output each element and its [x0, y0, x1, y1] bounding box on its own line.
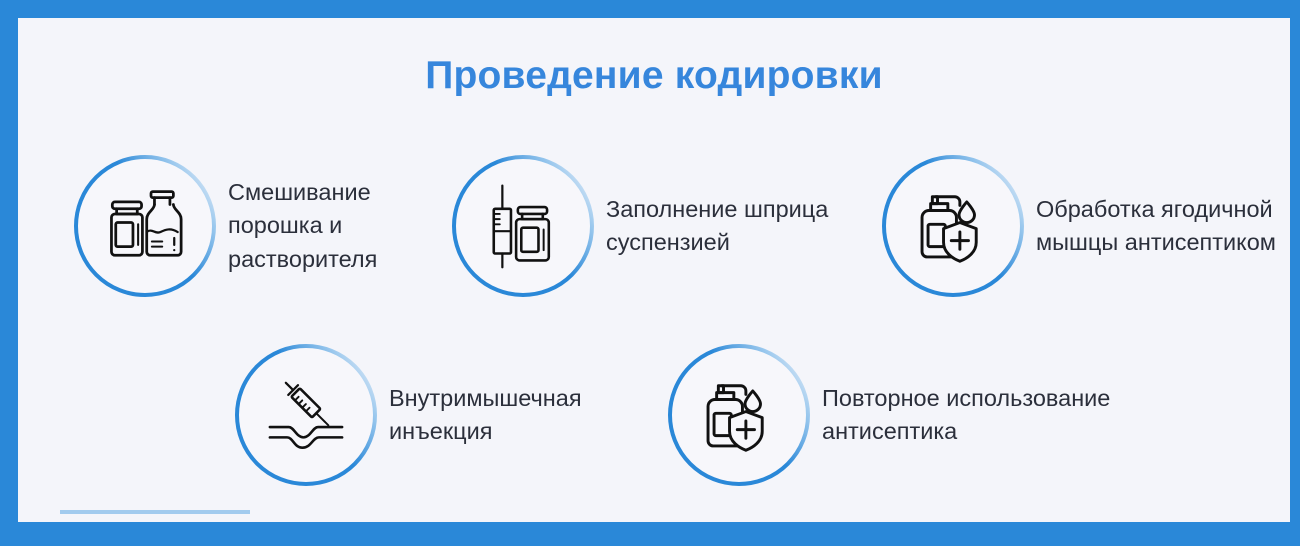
step-item-5[interactable]: Повторное использование антисептика [666, 342, 1110, 488]
vial-and-bottle-icon [102, 183, 188, 269]
step-3-icon-circle [880, 153, 1026, 299]
intramuscular-injection-icon [263, 372, 349, 458]
panel-accent-strip [60, 510, 250, 514]
step-5-icon-circle [666, 342, 812, 488]
step-item-4[interactable]: Внутримышечная инъекция [233, 342, 582, 488]
step-item-3[interactable]: Обработка ягодичной мышцы антисептиком [880, 153, 1276, 299]
page-title: Проведение кодировки [18, 54, 1290, 98]
step-3-label: Обработка ягодичной мышцы антисептиком [1036, 193, 1276, 260]
antiseptic-dispenser-shield-icon [696, 372, 782, 458]
infographic-card: Проведение кодировки [0, 0, 1300, 546]
step-4-label: Внутримышечная инъекция [389, 382, 582, 449]
step-item-2[interactable]: Заполнение шприца суспензией [450, 153, 828, 299]
step-item-1[interactable]: Смешивание порошка и растворителя [72, 153, 377, 299]
step-1-icon-circle [72, 153, 218, 299]
step-4-icon-circle [233, 342, 379, 488]
step-2-label: Заполнение шприца суспензией [606, 193, 828, 260]
antiseptic-dispenser-shield-icon [910, 183, 996, 269]
content-panel: Проведение кодировки [18, 18, 1290, 522]
syringe-and-vial-icon [480, 183, 566, 269]
step-1-label: Смешивание порошка и растворителя [228, 176, 377, 276]
step-2-icon-circle [450, 153, 596, 299]
step-5-label: Повторное использование антисептика [822, 382, 1110, 449]
